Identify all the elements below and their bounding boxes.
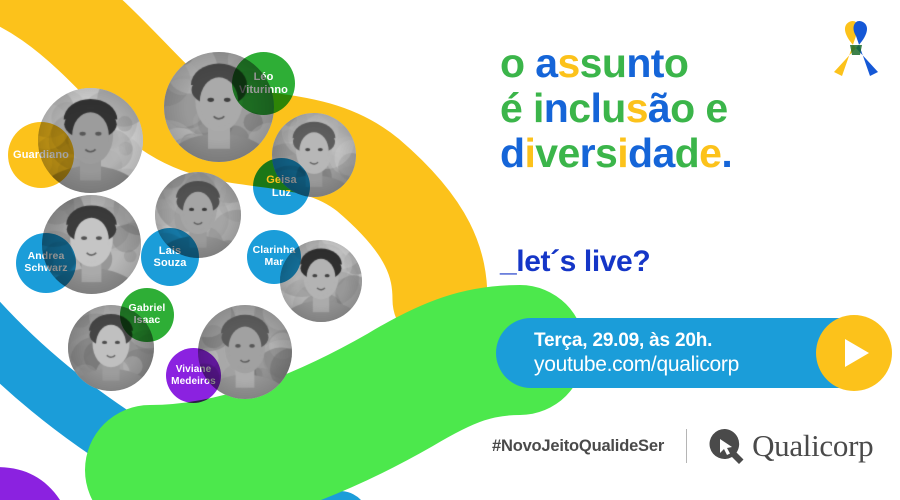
speaker-badge-name: ClarinhaMar: [253, 245, 296, 269]
headline-char: i: [524, 132, 535, 174]
headline-char: a: [652, 132, 674, 174]
headline-char: v: [535, 132, 557, 174]
speaker-badge: Guardiano: [8, 122, 74, 188]
speaker-badge-name: Guardiano: [13, 149, 69, 161]
speaker-badge-name-line: Luz: [266, 187, 296, 199]
headline-char: e: [557, 132, 579, 174]
headline-char: s: [557, 42, 579, 84]
subhead-lets-live: _let´s live?: [500, 245, 650, 279]
headline-char: [695, 87, 706, 129]
play-button[interactable]: [816, 315, 892, 391]
speaker-badge-name: AndreaSchwarz: [24, 251, 67, 275]
promo-poster: GuardianoLéoViturinnoGeisaLuzAndreaSchwa…: [0, 0, 900, 500]
headline-char: o: [670, 87, 694, 129]
speaker-badge-name-line: Viturinno: [239, 84, 288, 96]
speaker-badge-name: VivianeMedeiros: [171, 364, 216, 386]
headline-char: [522, 87, 533, 129]
headline-char: o: [664, 42, 688, 84]
headline-line-2: é inclusão e: [500, 87, 900, 129]
speaker-badge: VivianeMedeiros: [166, 348, 221, 403]
headline-char: s: [580, 42, 602, 84]
headline-char: s: [595, 132, 617, 174]
footer: #NovoJeitoQualideSer Qualicorp: [492, 425, 892, 467]
headline-char: e: [699, 132, 721, 174]
headline-char: .: [721, 132, 732, 174]
speaker-badge: AndreaSchwarz: [16, 233, 76, 293]
speaker-badge-name-line: Geisa: [266, 174, 296, 186]
speaker-badge-name-line: Guardiano: [13, 149, 69, 161]
speaker-badge: LéoViturinno: [232, 52, 295, 115]
headline-char: i: [617, 132, 628, 174]
speaker-badge-name-line: Medeiros: [171, 376, 216, 387]
headline-char: d: [500, 132, 524, 174]
logo-wordmark: Qualicorp: [752, 428, 873, 464]
headline-char: u: [602, 42, 626, 84]
right-column: o assunto é inclusão e diversidade. _let…: [492, 0, 900, 500]
speaker-badge-name: GeisaLuz: [266, 174, 296, 199]
speaker-collage: GuardianoLéoViturinnoGeisaLuzAndreaSchwa…: [0, 0, 480, 500]
headline-char: c: [568, 87, 590, 129]
speaker-badge-name-line: Mar: [253, 257, 296, 269]
headline-char: u: [601, 87, 625, 129]
cta-url: youtube.com/qualicorp: [534, 353, 739, 377]
headline-char: i: [533, 87, 544, 129]
speaker-badge-name: LaisSouza: [154, 245, 187, 270]
speaker-badge-name-line: Isaac: [129, 315, 166, 327]
headline-char: t: [651, 42, 664, 84]
headline-char: r: [580, 132, 595, 174]
qualicorp-q-icon: [707, 427, 745, 465]
headline-line-3: diversidade.: [500, 132, 900, 174]
speaker-badge: LaisSouza: [141, 228, 199, 286]
cta-date: Terça, 29.09, às 20h.: [534, 330, 739, 352]
headline-char: n: [544, 87, 568, 129]
speaker-badge: ClarinhaMar: [247, 230, 301, 284]
footer-divider: [686, 429, 687, 463]
headline-char: d: [628, 132, 652, 174]
hashtag: #NovoJeitoQualideSer: [492, 437, 664, 456]
headline-line-1: o assunto: [500, 42, 900, 84]
headline-char: s: [626, 87, 648, 129]
speaker-badge-name-line: Lais: [154, 245, 187, 257]
headline-char: e: [705, 87, 727, 129]
headline-char: d: [675, 132, 699, 174]
speaker-badge-name: LéoViturinno: [239, 71, 288, 96]
play-icon: [845, 339, 869, 367]
speaker-badge: GeisaLuz: [253, 158, 310, 215]
headline-char: l: [590, 87, 601, 129]
speaker-badge-name-line: Schwarz: [24, 263, 67, 275]
qualicorp-logo: Qualicorp: [707, 427, 873, 465]
headline-char: [524, 42, 535, 84]
headline: o assunto é inclusão e diversidade.: [500, 42, 900, 178]
speaker-badge-name-line: Léo: [239, 71, 288, 83]
headline-char: a: [535, 42, 557, 84]
headline-char: o: [500, 42, 524, 84]
cta-button[interactable]: Terça, 29.09, às 20h. youtube.com/qualic…: [496, 318, 874, 388]
speaker-badge-name: GabrielIsaac: [129, 303, 166, 327]
headline-char: n: [626, 42, 650, 84]
headline-char: ã: [648, 87, 670, 129]
speaker-badge-name-line: Viviane: [171, 364, 216, 375]
speaker-badge: GabrielIsaac: [120, 288, 174, 342]
cta-text: Terça, 29.09, às 20h. youtube.com/qualic…: [496, 330, 739, 377]
headline-char: é: [500, 87, 522, 129]
speaker-badge-name-line: Souza: [154, 257, 187, 269]
